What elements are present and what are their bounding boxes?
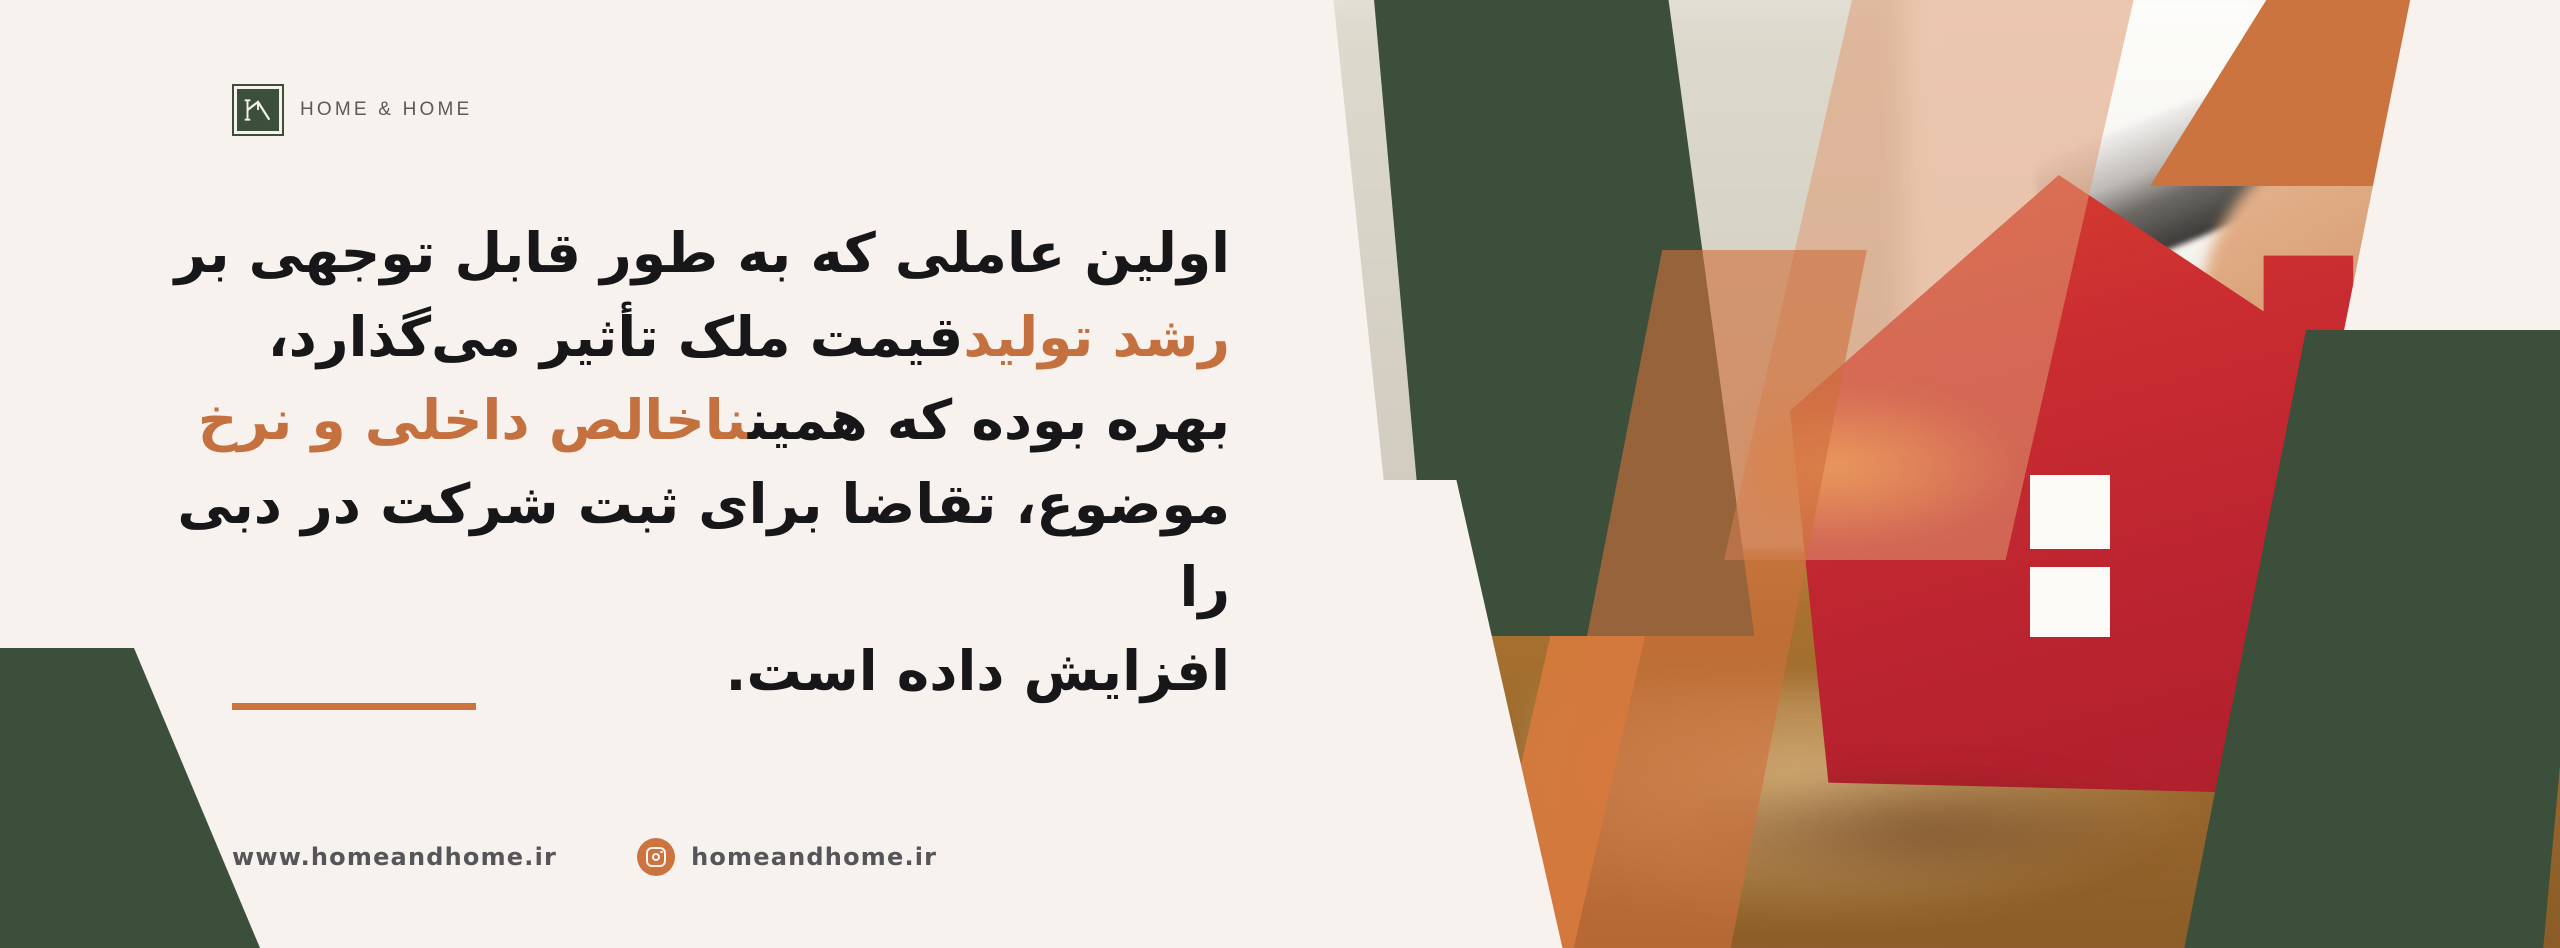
headline-line-2-accent: رشد تولید	[963, 305, 1230, 369]
house-window-bottom	[2030, 567, 2110, 637]
brand-logo[interactable]: HOME & HOME	[232, 84, 472, 136]
footer-contact-bar: www.homeandhome.ir homeandhome.ir	[232, 838, 937, 876]
headline-line-2-black: قیمت ملک تأثیر می‌گذارد،	[268, 305, 964, 369]
headline-line-5: افزایش داده است.	[140, 630, 1230, 714]
page-headline: اولین عاملی که به طور قابل توجهی بر رشد …	[140, 212, 1230, 714]
headline-line-4: موضوع، تقاضا برای ثبت شرکت در دبی را	[140, 463, 1230, 630]
headline-line-1: اولین عاملی که به طور قابل توجهی بر	[140, 212, 1230, 296]
brand-name: HOME & HOME	[300, 99, 472, 121]
headline-line-3-accent: ناخالص داخلی و نرخ	[198, 388, 748, 452]
website-label: www.homeandhome.ir	[232, 843, 557, 871]
accent-divider	[232, 703, 476, 710]
instagram-link[interactable]: homeandhome.ir	[637, 838, 937, 876]
instagram-handle-label: homeandhome.ir	[691, 843, 937, 871]
house-window-top	[2030, 475, 2110, 549]
headline-line-3-black: بهره بوده که همین	[748, 388, 1230, 452]
website-link[interactable]: www.homeandhome.ir	[232, 843, 557, 871]
instagram-icon[interactable]	[637, 838, 675, 876]
headline-line-3: بهره بوده که همینناخالص داخلی و نرخ	[140, 379, 1230, 463]
house-monogram-icon	[232, 84, 284, 136]
headline-line-2: رشد تولیدقیمت ملک تأثیر می‌گذارد،	[140, 296, 1230, 380]
poster-canvas: HOME & HOME اولین عاملی که به طور قابل ت…	[0, 0, 2560, 948]
